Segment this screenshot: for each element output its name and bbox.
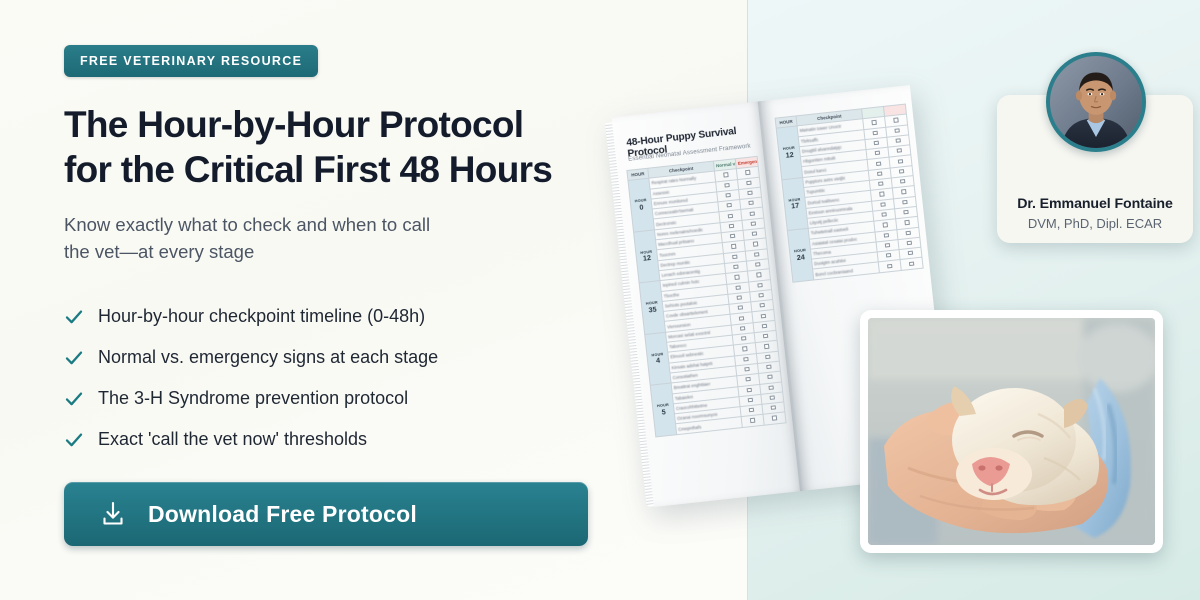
doctor-portrait-icon xyxy=(1050,56,1142,148)
emergency-checkbox-cell[interactable] xyxy=(763,412,786,425)
left-table-body: HOUR0Respirat rates NormallyAssessicEnnu… xyxy=(628,167,786,437)
list-item-label: Hour-by-hour checkpoint timeline (0-48h) xyxy=(98,306,425,328)
list-item-label: Normal vs. emergency signs at each stage xyxy=(98,347,438,369)
puppy-photo-frame xyxy=(860,310,1163,553)
promo-banner: FREE VETERINARY RESOURCE The Hour-by-Hou… xyxy=(0,0,1200,600)
avatar xyxy=(1046,52,1146,152)
download-free-protocol-button[interactable]: Download Free Protocol xyxy=(64,482,588,546)
left-content-column: FREE VETERINARY RESOURCE The Hour-by-Hou… xyxy=(64,0,684,600)
list-item-label: The 3-H Syndrome prevention protocol xyxy=(98,388,408,410)
check-icon xyxy=(64,389,84,409)
check-icon xyxy=(64,348,84,368)
resource-badge: FREE VETERINARY RESOURCE xyxy=(64,45,318,77)
download-button-label: Download Free Protocol xyxy=(148,501,417,528)
emergency-checkbox-cell[interactable] xyxy=(900,258,923,271)
headline-line-2: for the Critical First 48 Hours xyxy=(64,149,552,190)
subheadline: Know exactly what to check and when to c… xyxy=(64,211,564,265)
page-title: The Hour-by-Hour Protocol for the Critic… xyxy=(64,103,624,193)
subheadline-line-1: Know exactly what to check and when to c… xyxy=(64,214,430,235)
check-icon xyxy=(64,307,84,327)
right-table-body: HOUR12Mainatin tower UnoctrTbrksaffcDnug… xyxy=(776,114,923,282)
normal-checkbox-cell[interactable] xyxy=(741,415,764,428)
doctor-name: Dr. Emmanuel Fontaine xyxy=(997,196,1193,212)
checkpoint-table-left: HOUR Checkpoint Normal vs. Emergency HOU… xyxy=(626,156,786,437)
checkpoint-table-right: HOUR Checkpoint HOUR12Mainatin tower Uno… xyxy=(775,103,924,282)
puppy-photo xyxy=(868,318,1155,545)
list-item: The 3-H Syndrome prevention protocol xyxy=(64,378,624,419)
list-item: Hour-by-hour checkpoint timeline (0-48h) xyxy=(64,296,624,337)
list-item: Normal vs. emergency signs at each stage xyxy=(64,337,624,378)
doctor-credentials: DVM, PhD, Dipl. ECAR xyxy=(997,216,1193,231)
check-icon xyxy=(64,430,84,450)
headline-line-1: The Hour-by-Hour Protocol xyxy=(64,104,523,145)
download-icon xyxy=(98,499,128,529)
normal-checkbox-cell[interactable] xyxy=(878,260,901,273)
subheadline-line-2: the vet—at every stage xyxy=(64,241,254,262)
newborn-puppy-image xyxy=(868,318,1155,545)
list-item-label: Exact 'call the vet now' thresholds xyxy=(98,429,367,451)
feature-list: Hour-by-hour checkpoint timeline (0-48h)… xyxy=(64,296,624,460)
list-item: Exact 'call the vet now' thresholds xyxy=(64,419,624,460)
